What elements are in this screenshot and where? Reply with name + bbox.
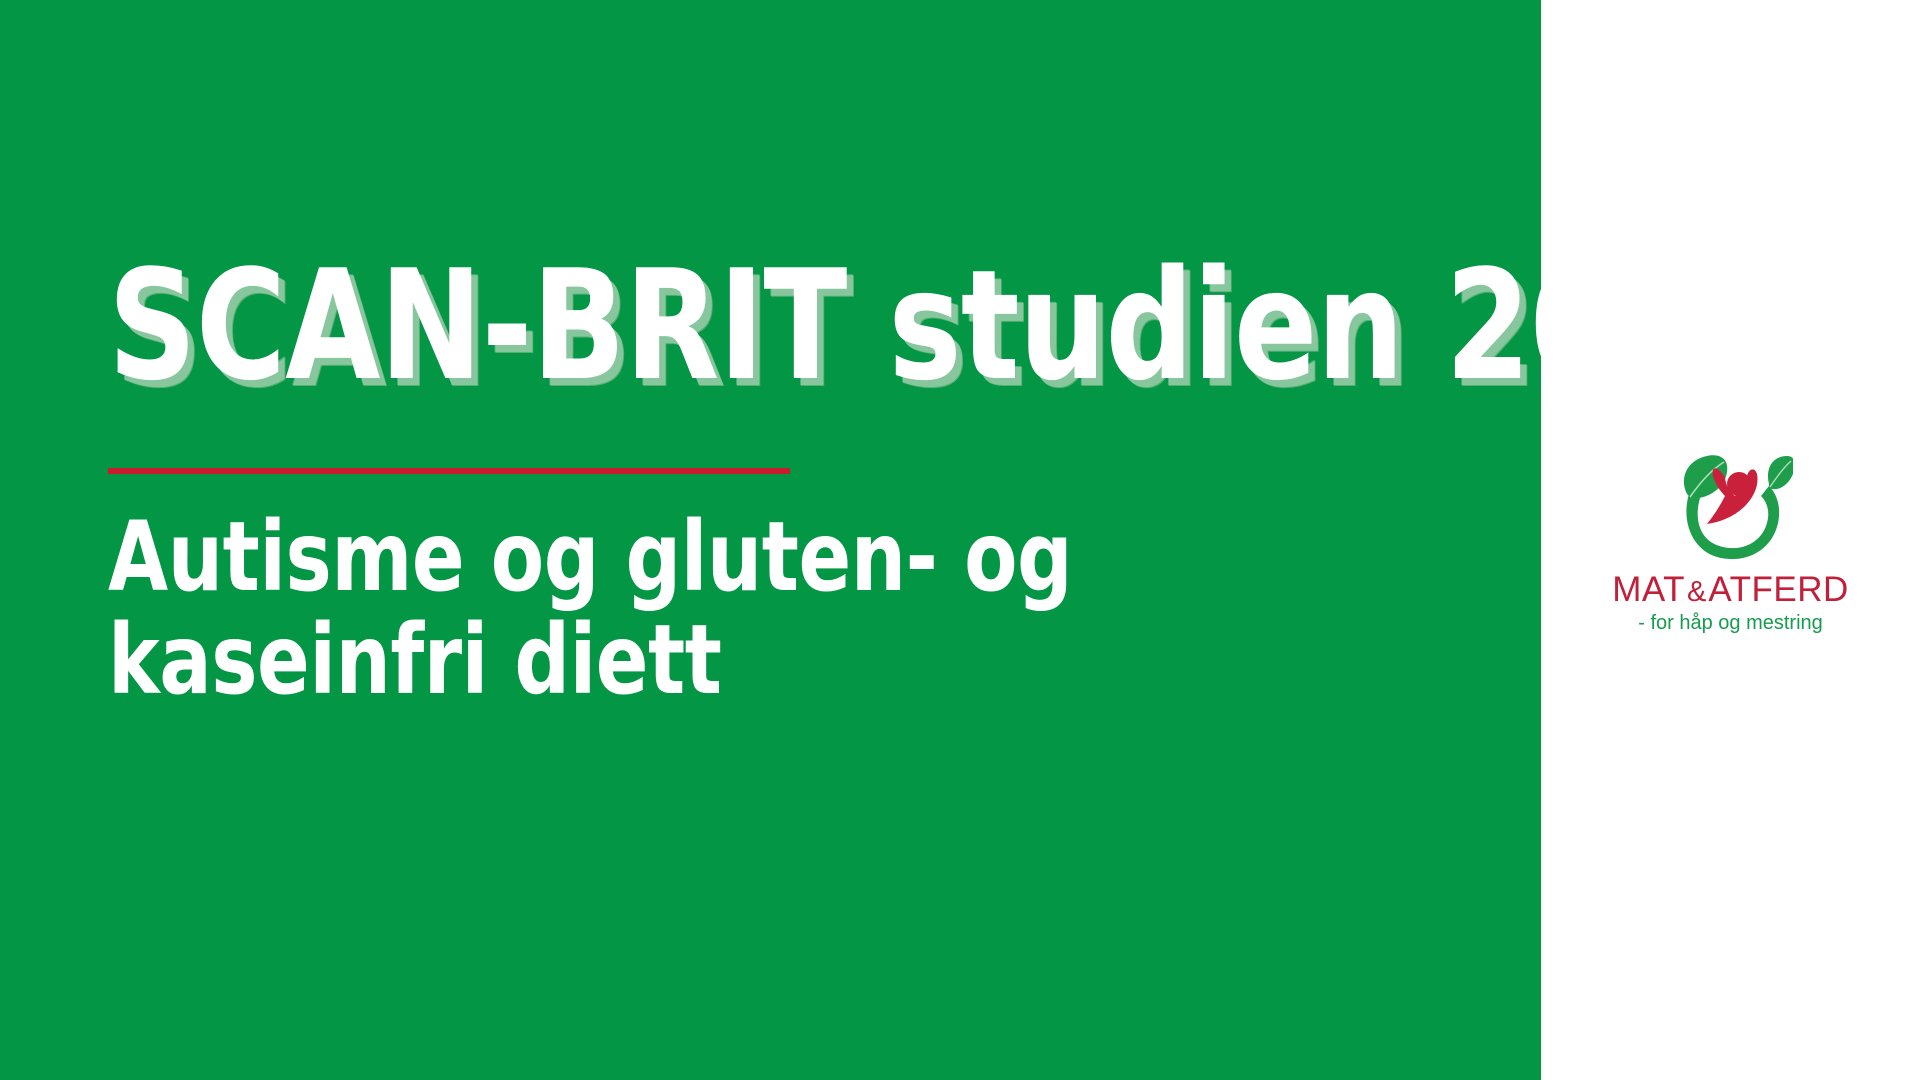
logo-tagline: - for håp og mestring (1541, 612, 1920, 635)
logo-wordmark: MAT&ATFERD (1541, 570, 1920, 610)
subtitle-line-2: kaseinfri diett (108, 609, 1098, 712)
slide-title: SCAN-BRIT studien 2010 (108, 248, 1368, 403)
brand-logo: MAT&ATFERD - for håp og mestring (1541, 448, 1920, 635)
red-divider-rule (108, 468, 790, 474)
logo-wordmark-left: MAT (1612, 570, 1685, 609)
subtitle-block: Autisme og gluten- og kaseinfri diett (108, 506, 1208, 711)
logo-panel: MAT&ATFERD - for håp og mestring (1541, 0, 1920, 1080)
mat-og-atferd-logo-mark-icon (1669, 448, 1793, 564)
presentation-slide: SCAN-BRIT studien 2010 Autisme og gluten… (0, 0, 1920, 1080)
subtitle-line-1: Autisme og gluten- og (108, 506, 1098, 609)
title-block: SCAN-BRIT studien 2010 (108, 248, 1508, 403)
logo-wordmark-ampersand: & (1685, 576, 1708, 608)
logo-wordmark-right: ATFERD (1708, 570, 1848, 609)
